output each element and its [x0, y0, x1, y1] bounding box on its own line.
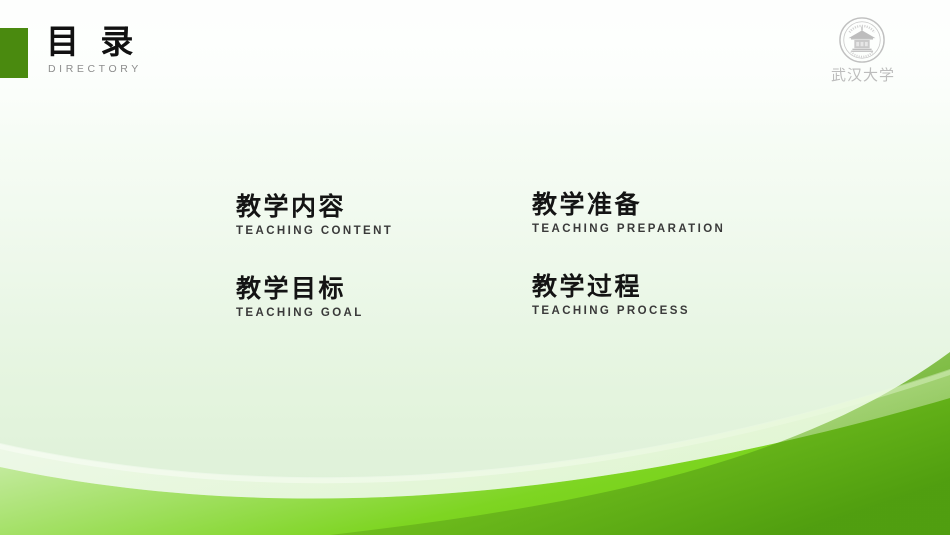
- title-accent-block: [0, 28, 28, 78]
- directory-item-title-cn: 教学过程: [532, 272, 690, 302]
- wuhan-university-emblem-icon: [838, 16, 886, 64]
- directory-item-teaching-content[interactable]: 教学内容 TEACHING CONTENT: [236, 192, 393, 238]
- page-title: 目 录: [46, 22, 134, 62]
- directory-item-teaching-goal[interactable]: 教学目标 TEACHING GOAL: [236, 274, 364, 320]
- directory-item-title-en: TEACHING PREPARATION: [532, 222, 725, 236]
- wave-secondary-dark: [330, 352, 950, 535]
- university-wordmark-text: 武汉大学: [831, 66, 895, 84]
- directory-item-teaching-process[interactable]: 教学过程 TEACHING PROCESS: [532, 272, 690, 318]
- page-subtitle: DIRECTORY: [48, 63, 142, 76]
- wave-sheen: [0, 369, 950, 483]
- bottom-wave-decoration: [0, 0, 950, 535]
- directory-item-title-en: TEACHING CONTENT: [236, 224, 393, 238]
- directory-item-title-cn: 教学内容: [236, 192, 393, 222]
- directory-item-teaching-preparation[interactable]: 教学准备 TEACHING PREPARATION: [532, 190, 725, 236]
- university-wordmark-icon: 武汉大学: [820, 61, 906, 87]
- directory-item-title-en: TEACHING GOAL: [236, 306, 364, 320]
- directory-item-title-cn: 教学目标: [236, 274, 364, 304]
- wave-highlight: [0, 370, 950, 499]
- directory-item-title-cn: 教学准备: [532, 190, 725, 220]
- university-logo: 武汉大学: [820, 16, 906, 88]
- directory-item-title-en: TEACHING PROCESS: [532, 304, 690, 318]
- wave-primary: [0, 398, 950, 535]
- directory-slide: 目 录 DIRECTORY 武汉大学 教学内容: [0, 0, 950, 535]
